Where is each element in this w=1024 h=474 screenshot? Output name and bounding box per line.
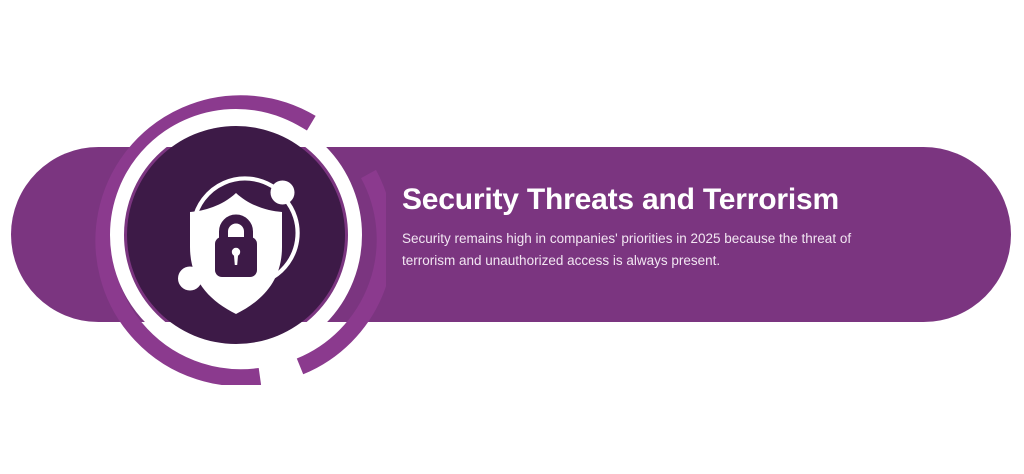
banner-canvas: Security Threats and Terrorism Security … — [0, 0, 1024, 474]
banner-headline: Security Threats and Terrorism — [402, 183, 922, 216]
orbit-node-top-right-icon — [271, 181, 295, 205]
security-icon-badge — [86, 85, 386, 385]
banner-text-block: Security Threats and Terrorism Security … — [402, 183, 922, 273]
banner-subcopy: Security remains high in companies' prio… — [402, 228, 894, 273]
